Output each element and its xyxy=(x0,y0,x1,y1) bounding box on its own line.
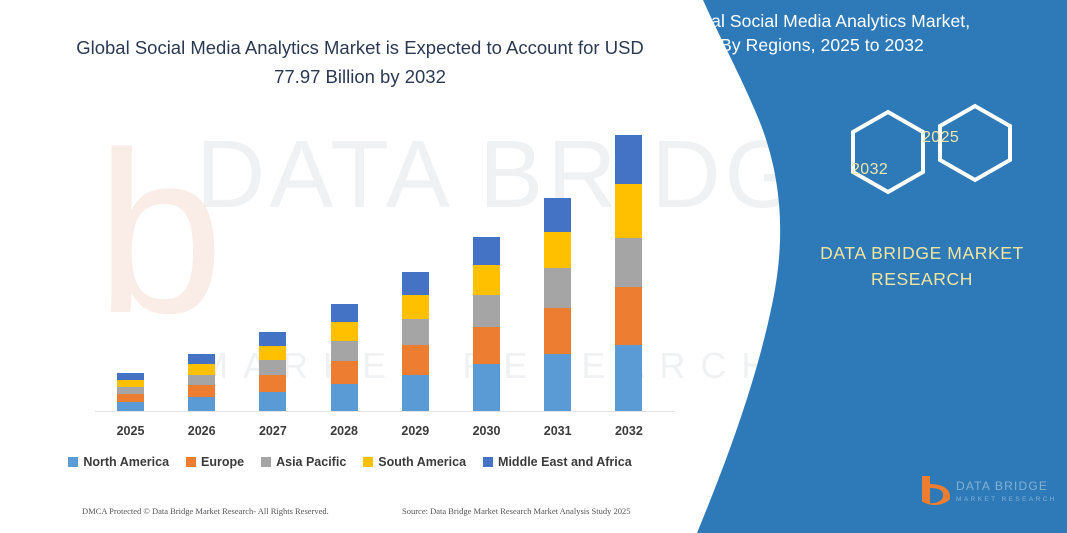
legend-swatch-icon xyxy=(483,457,493,467)
footer-source: Source: Data Bridge Market Research Mark… xyxy=(402,506,631,516)
bar-segment-asia-pacific xyxy=(331,341,358,361)
bar-segment-middle-east-and-africa xyxy=(117,373,144,381)
legend-swatch-icon xyxy=(186,457,196,467)
legend-item-asia-pacific[interactable]: Asia Pacific xyxy=(261,455,346,469)
x-axis-label-2030: 2030 xyxy=(457,424,517,438)
bar-segment-south-america xyxy=(402,295,429,319)
bar-segment-north-america xyxy=(615,345,642,411)
bar-segment-europe xyxy=(188,385,215,397)
chart-legend: North AmericaEuropeAsia PacificSouth Ame… xyxy=(0,455,700,469)
bar-2026 xyxy=(188,354,215,411)
x-axis-label-2031: 2031 xyxy=(528,424,588,438)
bar-segment-asia-pacific xyxy=(615,238,642,287)
infographic-root: b DATA BRIDGE MARKET RESEARCH Global Soc… xyxy=(0,0,1067,533)
legend-swatch-icon xyxy=(261,457,271,467)
x-axis-label-2029: 2029 xyxy=(385,424,445,438)
bar-segment-asia-pacific xyxy=(259,360,286,375)
bar-segment-europe xyxy=(259,375,286,391)
bar-2025 xyxy=(117,373,144,411)
bar-segment-middle-east-and-africa xyxy=(544,198,571,232)
logo-wordmark: DATA BRIDGE MARKET RESEARCH xyxy=(956,479,1057,503)
x-axis-label-2028: 2028 xyxy=(314,424,374,438)
bar-segment-middle-east-and-africa xyxy=(259,332,286,346)
stacked-bar-chart: 20252026202720282029203020312032 North A… xyxy=(0,0,700,533)
bar-2028 xyxy=(331,304,358,411)
bar-segment-north-america xyxy=(117,402,144,411)
bar-2032 xyxy=(615,135,642,411)
bar-segment-middle-east-and-africa xyxy=(331,304,358,322)
bar-segment-asia-pacific xyxy=(188,375,215,386)
bar-2031 xyxy=(544,198,571,411)
chart-x-axis-labels: 20252026202720282029203020312032 xyxy=(95,424,675,442)
logo-wordmark-line1: DATA BRIDGE xyxy=(956,479,1057,493)
logo-b-icon xyxy=(918,474,954,512)
bar-segment-middle-east-and-africa xyxy=(615,135,642,184)
bar-segment-europe xyxy=(615,287,642,345)
bar-segment-europe xyxy=(473,327,500,364)
x-axis-label-2025: 2025 xyxy=(101,424,161,438)
bar-segment-north-america xyxy=(188,397,215,411)
bar-2030 xyxy=(473,237,500,411)
bar-segment-middle-east-and-africa xyxy=(188,354,215,365)
x-axis-label-2027: 2027 xyxy=(243,424,303,438)
bar-segment-south-america xyxy=(331,322,358,341)
panel-title: Global Social Media Analytics Market, By… xyxy=(672,10,972,57)
hexagon-badges xyxy=(820,96,1020,216)
bar-segment-south-america xyxy=(188,364,215,374)
bar-2029 xyxy=(402,272,429,411)
legend-item-middle-east-and-africa[interactable]: Middle East and Africa xyxy=(483,455,632,469)
legend-swatch-icon xyxy=(68,457,78,467)
legend-label: North America xyxy=(83,455,169,469)
bar-segment-europe xyxy=(117,394,144,402)
chart-baseline xyxy=(95,411,675,412)
bar-segment-asia-pacific xyxy=(544,268,571,308)
bar-segment-south-america xyxy=(615,184,642,238)
x-axis-label-2026: 2026 xyxy=(172,424,232,438)
bar-segment-north-america xyxy=(544,354,571,411)
bar-2027 xyxy=(259,332,286,411)
bar-segment-north-america xyxy=(473,364,500,410)
bar-segment-asia-pacific xyxy=(117,387,144,394)
legend-label: Asia Pacific xyxy=(276,455,346,469)
hexagon-label-start: 2025 xyxy=(922,129,959,147)
bar-segment-north-america xyxy=(331,384,358,411)
legend-item-north-america[interactable]: North America xyxy=(68,455,169,469)
footer-copyright: DMCA Protected © Data Bridge Market Rese… xyxy=(82,506,329,516)
legend-item-europe[interactable]: Europe xyxy=(186,455,244,469)
legend-label: South America xyxy=(378,455,466,469)
bar-segment-middle-east-and-africa xyxy=(402,272,429,295)
bar-segment-south-america xyxy=(544,232,571,268)
logo-wordmark-line2: MARKET RESEARCH xyxy=(956,496,1057,503)
legend-swatch-icon xyxy=(363,457,373,467)
bar-segment-asia-pacific xyxy=(473,295,500,327)
bar-segment-europe xyxy=(331,361,358,384)
bar-segment-middle-east-and-africa xyxy=(473,237,500,265)
legend-label: Middle East and Africa xyxy=(498,455,632,469)
bar-segment-europe xyxy=(402,345,429,374)
brand-name: DATA BRIDGE MARKET RESEARCH xyxy=(772,240,1067,293)
x-axis-label-2032: 2032 xyxy=(599,424,659,438)
bar-segment-north-america xyxy=(402,375,429,411)
bar-segment-south-america xyxy=(259,346,286,360)
hexagon-label-end: 2032 xyxy=(851,161,888,179)
bar-segment-south-america xyxy=(117,380,144,387)
bar-segment-south-america xyxy=(473,265,500,295)
bar-segment-europe xyxy=(544,308,571,354)
legend-item-south-america[interactable]: South America xyxy=(363,455,466,469)
data-bridge-logo: DATA BRIDGE MARKET RESEARCH xyxy=(918,474,1058,514)
legend-label: Europe xyxy=(201,455,244,469)
footer: DMCA Protected © Data Bridge Market Rese… xyxy=(0,506,700,522)
bar-segment-asia-pacific xyxy=(402,319,429,345)
bar-segment-north-america xyxy=(259,392,286,411)
